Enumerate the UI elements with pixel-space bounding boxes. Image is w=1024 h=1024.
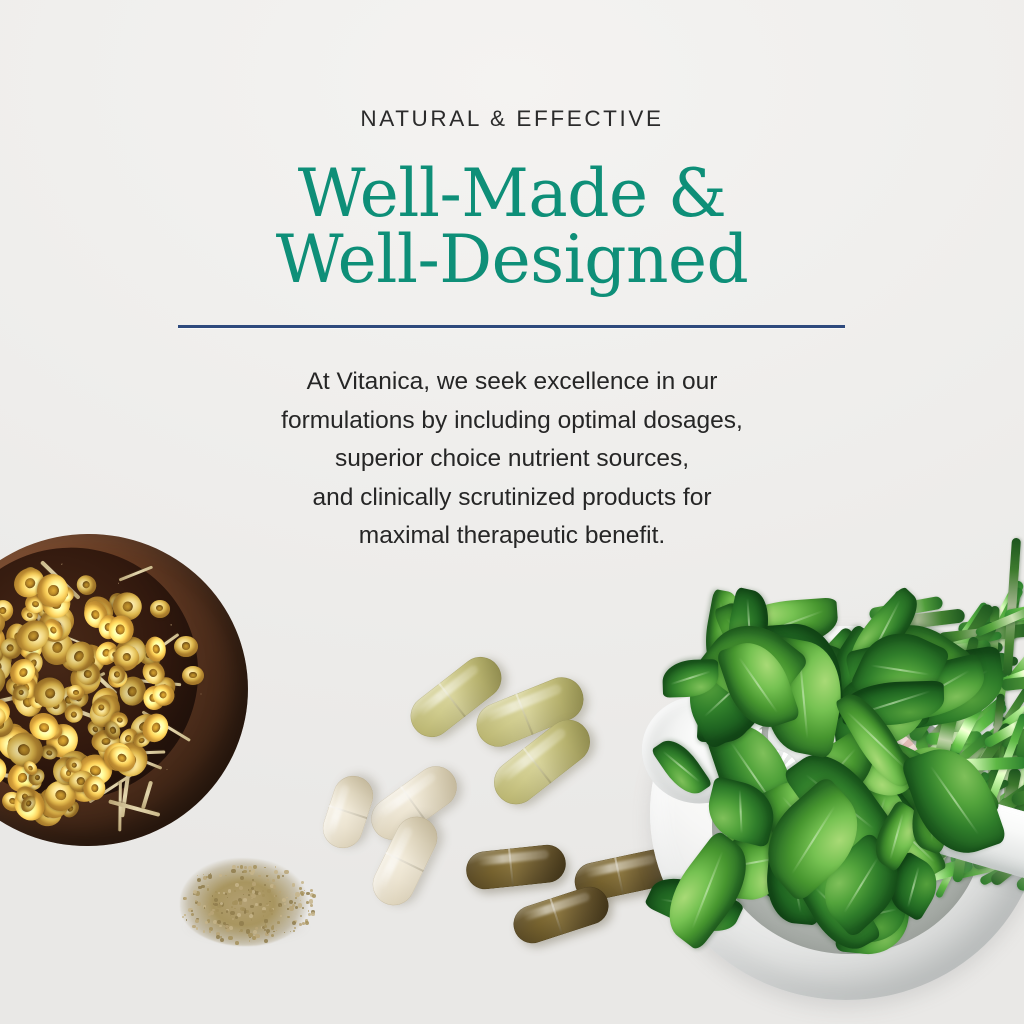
- powder-grain: [277, 875, 281, 879]
- pill-highlight: [376, 772, 437, 820]
- capsule-brown-3: [509, 882, 614, 948]
- pill-highlight: [416, 663, 481, 716]
- powder-grain: [309, 899, 313, 903]
- powder-grain: [289, 900, 293, 904]
- powder-grain: [214, 903, 217, 906]
- powder-grain: [262, 910, 265, 913]
- powder-grain: [244, 911, 246, 913]
- body-line-3: superior choice nutrient sources,: [0, 440, 1024, 479]
- powder-grain: [205, 921, 207, 923]
- powder-grain: [289, 906, 293, 910]
- chamomile-flower-head-loose: [150, 600, 170, 618]
- powder-grain: [240, 907, 244, 911]
- chamomile-flower-head: [64, 705, 83, 724]
- powder-grain: [231, 869, 235, 873]
- powder-grain: [191, 910, 193, 912]
- powder-grain: [184, 897, 187, 900]
- powder-grain: [301, 881, 304, 884]
- powder-grain: [294, 927, 295, 928]
- powder-grain: [235, 916, 238, 919]
- powder-grain: [255, 934, 259, 938]
- powder-grain: [232, 901, 236, 905]
- powder-grain: [299, 887, 302, 890]
- powder-grain: [266, 929, 270, 933]
- powder-grain: [266, 875, 268, 877]
- powder-grain: [209, 930, 212, 933]
- powder-grain: [221, 912, 223, 914]
- powder-grain: [273, 885, 276, 888]
- powder-grain: [269, 901, 270, 902]
- powder-grain: [308, 913, 311, 916]
- powder-grain: [225, 893, 227, 895]
- dried-chamomile-flowers: [0, 540, 238, 870]
- powder-grain: [203, 930, 205, 932]
- powder-grain: [258, 875, 261, 878]
- powder-grain: [271, 913, 273, 915]
- powder-grain: [252, 882, 255, 885]
- powder-grain: [237, 866, 238, 867]
- powder-grain: [284, 870, 288, 874]
- powder-grain: [197, 902, 201, 906]
- mortar-and-pestle-image: [640, 600, 1024, 1024]
- powder-grain: [184, 914, 185, 915]
- powder-grain: [244, 899, 246, 901]
- body-line-5: maximal therapeutic benefit.: [0, 517, 1024, 556]
- body-line-2: formulations by including optimal dosage…: [0, 402, 1024, 441]
- powder-grain: [286, 897, 288, 899]
- powder-grain: [274, 870, 278, 874]
- page-title: Well-Made & Well-Designed: [0, 161, 1024, 293]
- powder-grain: [276, 930, 277, 931]
- body-line-4: and clinically scrutinized products for: [0, 479, 1024, 518]
- powder-grain: [311, 912, 315, 916]
- powder-grain: [255, 903, 258, 906]
- body-line-1: At Vitanica, we seek excellence in our: [0, 363, 1024, 402]
- powder-grain: [217, 920, 221, 924]
- powder-grain: [239, 921, 243, 925]
- powder-grain: [310, 904, 313, 907]
- powder-grain: [295, 892, 299, 896]
- powder-grain: [279, 891, 281, 893]
- powder-grain: [256, 927, 258, 929]
- tablet-cream-2: [318, 771, 379, 854]
- chamomile-stem: [119, 566, 153, 582]
- powder-grain: [310, 889, 313, 892]
- powder-grain: [248, 894, 250, 896]
- powder-grain: [220, 938, 224, 942]
- chamomile-stem: [141, 781, 153, 809]
- powder-grain: [219, 874, 222, 877]
- powder-grain: [267, 889, 270, 892]
- powder-grain: [232, 918, 234, 920]
- powder-grain: [250, 905, 254, 909]
- capsule-brown-1: [464, 843, 567, 891]
- headline-line-2: Well-Designed: [0, 227, 1024, 293]
- chamomile-stem: [109, 799, 161, 817]
- powder-grain: [259, 903, 262, 906]
- powder-grain: [271, 926, 274, 929]
- powder-grain: [195, 919, 199, 923]
- powder-grain: [208, 874, 212, 878]
- powder-grain: [312, 894, 317, 899]
- powder-grain: [287, 916, 290, 919]
- headline-line-1: Well-Made &: [0, 161, 1024, 227]
- powder-grain: [235, 941, 239, 945]
- powder-grain: [302, 907, 304, 909]
- powder-grain: [234, 890, 236, 892]
- powder-grain: [252, 890, 255, 893]
- powder-grain: [249, 914, 252, 917]
- powder-grain: [201, 885, 205, 889]
- promotional-poster: NATURAL & EFFECTIVE Well-Made & Well-Des…: [0, 0, 1024, 1024]
- powder-grain: [206, 876, 208, 878]
- eyebrow-label: NATURAL & EFFECTIVE: [0, 108, 1024, 131]
- chamomile-flower-head-loose: [182, 666, 204, 685]
- powder-grain: [292, 883, 295, 886]
- chamomile-flower-head-loose: [174, 636, 198, 657]
- powder-grain: [269, 908, 273, 912]
- pill-highlight: [477, 850, 549, 866]
- powder-grain: [228, 889, 232, 893]
- powder-grain: [263, 915, 264, 916]
- herbal-powder-pile: [166, 848, 334, 958]
- powder-grain: [226, 910, 228, 912]
- powder-grain: [264, 929, 266, 931]
- powder-grain: [305, 922, 306, 923]
- chamomile-flower-head: [83, 776, 106, 800]
- powder-grain: [277, 921, 280, 924]
- powder-grain: [215, 891, 217, 893]
- powder-grain: [268, 875, 269, 876]
- body-paragraph: At Vitanica, we seek excellence in our f…: [0, 363, 1024, 556]
- powder-grain: [253, 865, 257, 869]
- powder-grain: [182, 916, 184, 918]
- divider: [178, 325, 845, 328]
- powder-grain: [225, 925, 228, 928]
- powder-grain: [226, 928, 230, 932]
- powder-grain: [212, 909, 215, 912]
- powder-grain: [258, 892, 261, 895]
- powder-grain: [251, 887, 254, 890]
- powder-grain: [298, 903, 302, 907]
